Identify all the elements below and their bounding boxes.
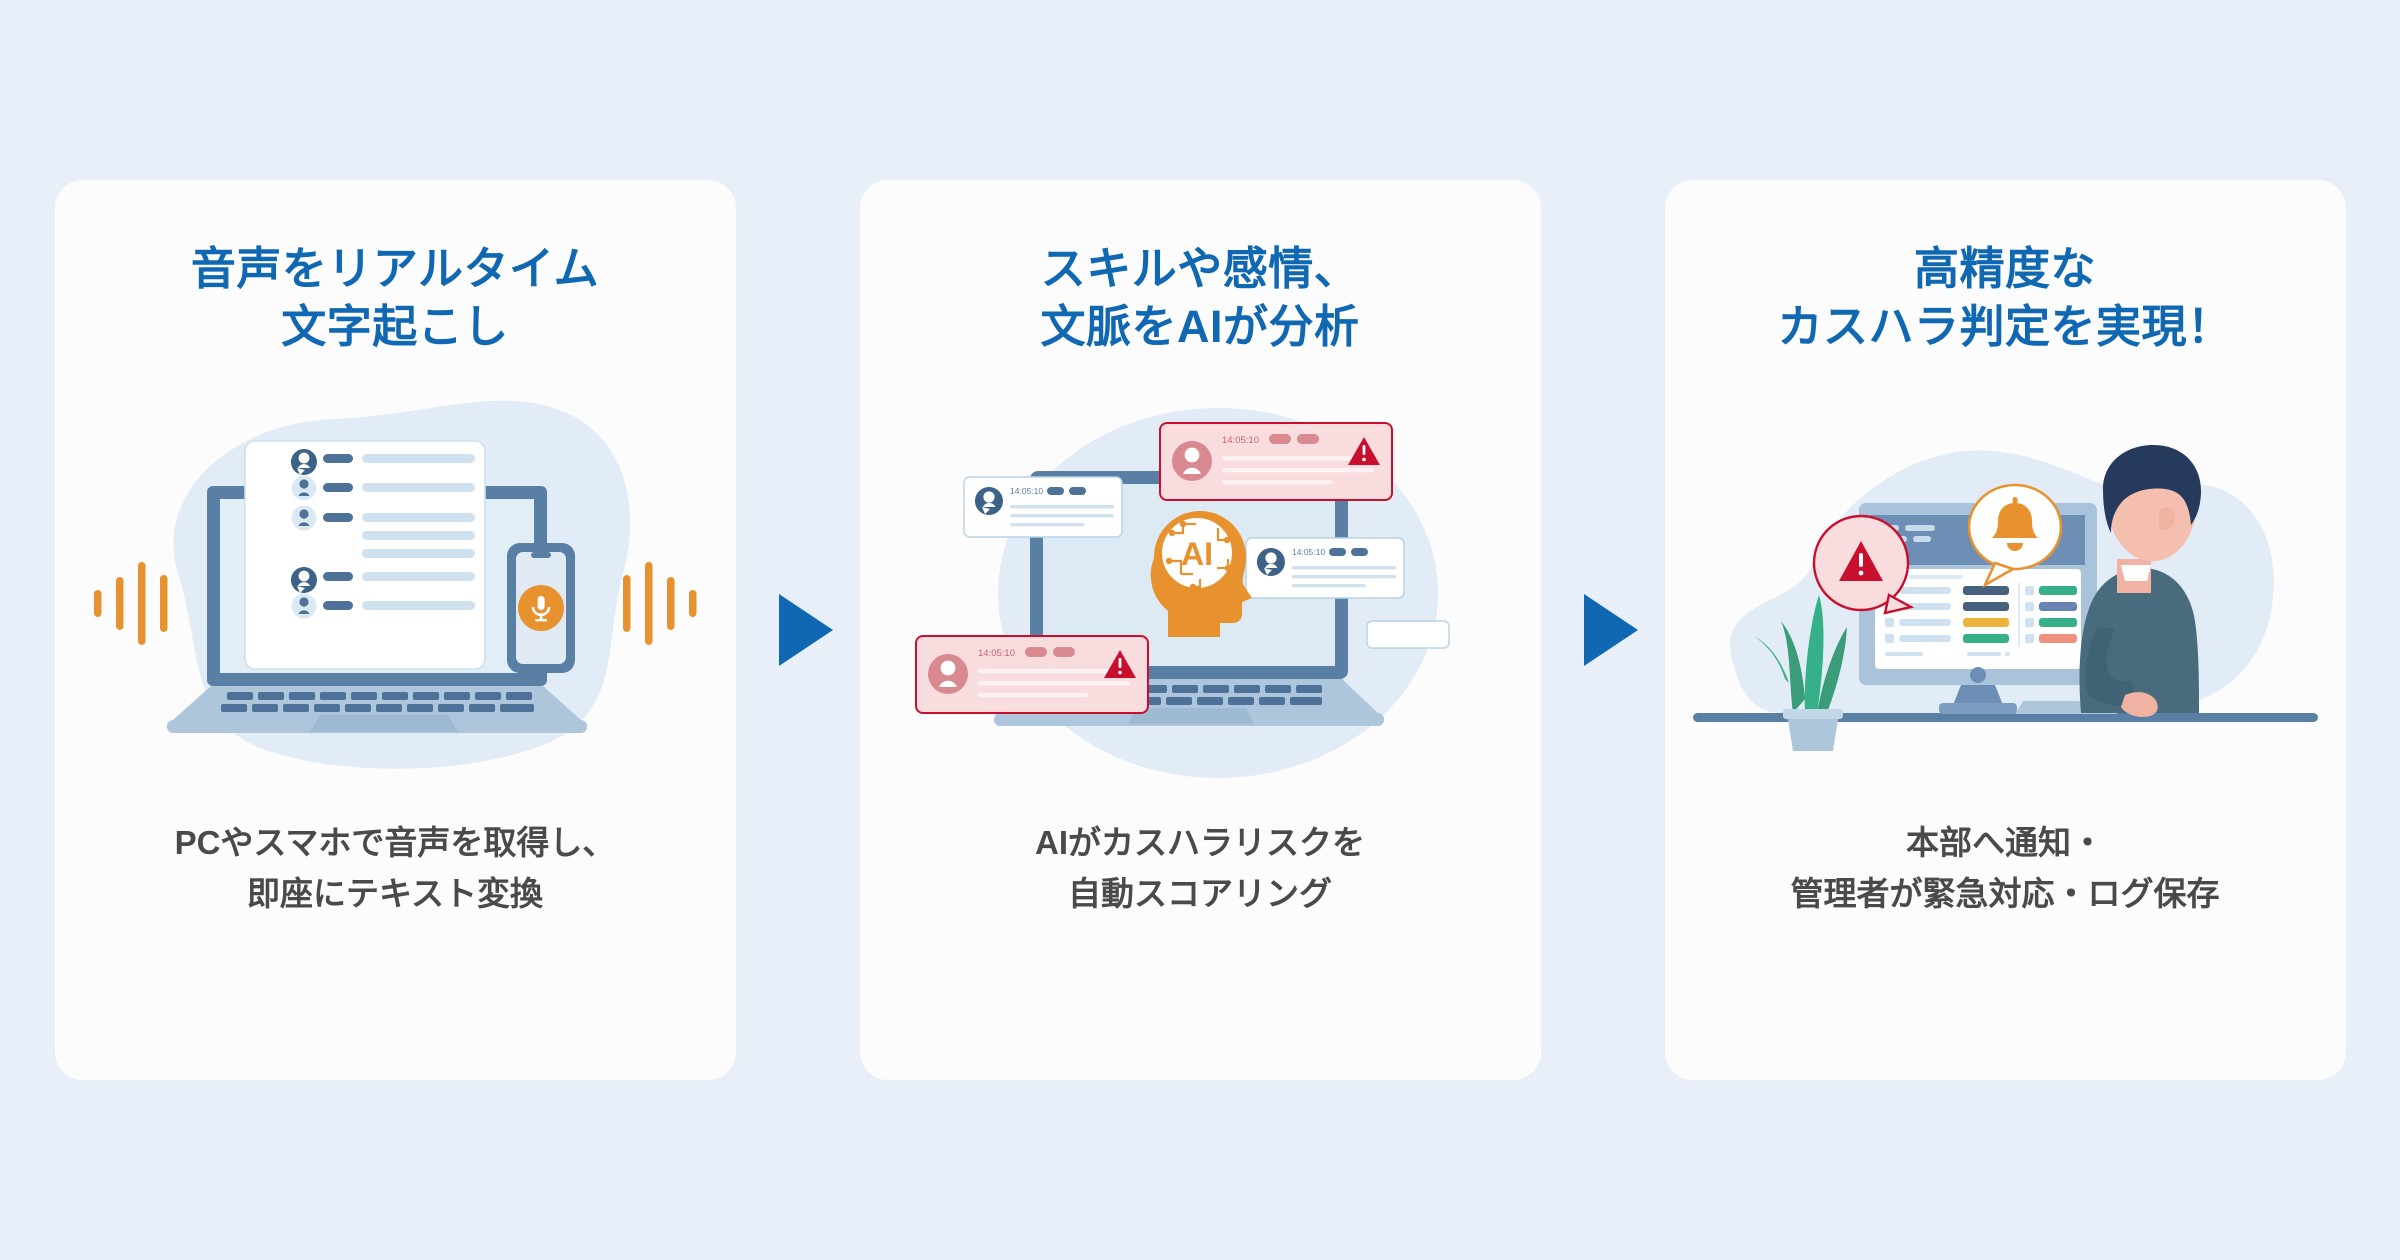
text-line: [362, 549, 475, 558]
text-line: [362, 483, 475, 492]
step-card-1: 音声をリアルタイム 文字起こし: [55, 180, 736, 1080]
step-3-illustration: [1693, 383, 2318, 783]
message-card-alert-top: 14:05:10: [1160, 423, 1392, 500]
text-line: [1292, 566, 1396, 569]
ai-label: AI: [1181, 536, 1213, 572]
arrow-step-1-to-2: [775, 590, 837, 670]
message-timestamp: 14:05:10: [978, 648, 1015, 659]
text-line: [362, 531, 475, 540]
text-line: [1010, 523, 1084, 526]
message-timestamp: 14:05:10: [1222, 435, 1259, 446]
text-line: [362, 572, 475, 581]
smartphone-notch: [531, 552, 551, 558]
sound-wave-left: [94, 562, 168, 645]
step-2-title: スキルや感情、 文脈をAIが分析: [1040, 240, 1359, 355]
warning-bubble: [1814, 516, 1911, 613]
person-collar: [2121, 565, 2151, 581]
empty-card: [1367, 621, 1449, 648]
step-1-title: 音声をリアルタイム 文字起こし: [191, 240, 599, 355]
monitor-stand-base: [1939, 703, 2017, 714]
text-line: [362, 454, 475, 463]
step-2-caption: AIがカスハラリスクを 自動スコアリング: [1035, 817, 1365, 919]
steps-row: 音声をリアルタイム 文字起こし: [0, 0, 2400, 1260]
arrow-right-icon: [779, 594, 833, 666]
text-line: [1010, 514, 1114, 517]
text-line: [1222, 468, 1374, 472]
text-line: [1010, 505, 1114, 508]
laptop-trackpad: [310, 715, 458, 732]
text-line: [362, 513, 475, 522]
step-card-2: スキルや感情、 文脈をAIが分析: [860, 180, 1541, 1080]
text-line: [1292, 584, 1366, 587]
message-timestamp: 14:05:10: [1010, 486, 1043, 496]
monitor-power-dot: [1970, 667, 1986, 683]
name-pill: [323, 454, 353, 463]
name-pill: [323, 513, 353, 522]
text-line: [1222, 480, 1332, 484]
arrow-right-icon: [1584, 594, 1638, 666]
laptop-base: [173, 686, 581, 720]
text-line: [978, 681, 1130, 685]
text-line: [362, 601, 475, 610]
step-3-title: 高精度な カスハラ判定を実現！: [1777, 240, 2232, 355]
text-line: [978, 693, 1088, 697]
message-card-normal-left: 14:05:10: [964, 477, 1122, 537]
name-pill: [323, 601, 353, 610]
name-pill: [323, 483, 353, 492]
step-card-3: 高精度な カスハラ判定を実現！: [1665, 180, 2346, 1080]
name-pill: [323, 572, 353, 581]
monitor-stand: [1953, 685, 2003, 705]
infographic-stage: 音声をリアルタイム 文字起こし: [0, 0, 2400, 1260]
message-card-normal-right: 14:05:10: [1246, 538, 1404, 598]
message-timestamp: 14:05:10: [1292, 547, 1325, 557]
step-1-illustration: [83, 383, 708, 783]
text-line: [1292, 575, 1396, 578]
step-3-caption: 本部へ通知・ 管理者が緊急対応・ログ保存: [1791, 817, 2220, 919]
step-1-caption: PCやスマホで音声を取得し、 即座にテキスト変換: [175, 817, 616, 919]
arrow-step-2-to-3: [1580, 590, 1642, 670]
step-2-illustration: 14:05:10 14:05:10: [888, 383, 1513, 783]
sound-wave-right: [623, 562, 697, 645]
message-card-alert-bottom: 14:05:10: [916, 636, 1148, 713]
